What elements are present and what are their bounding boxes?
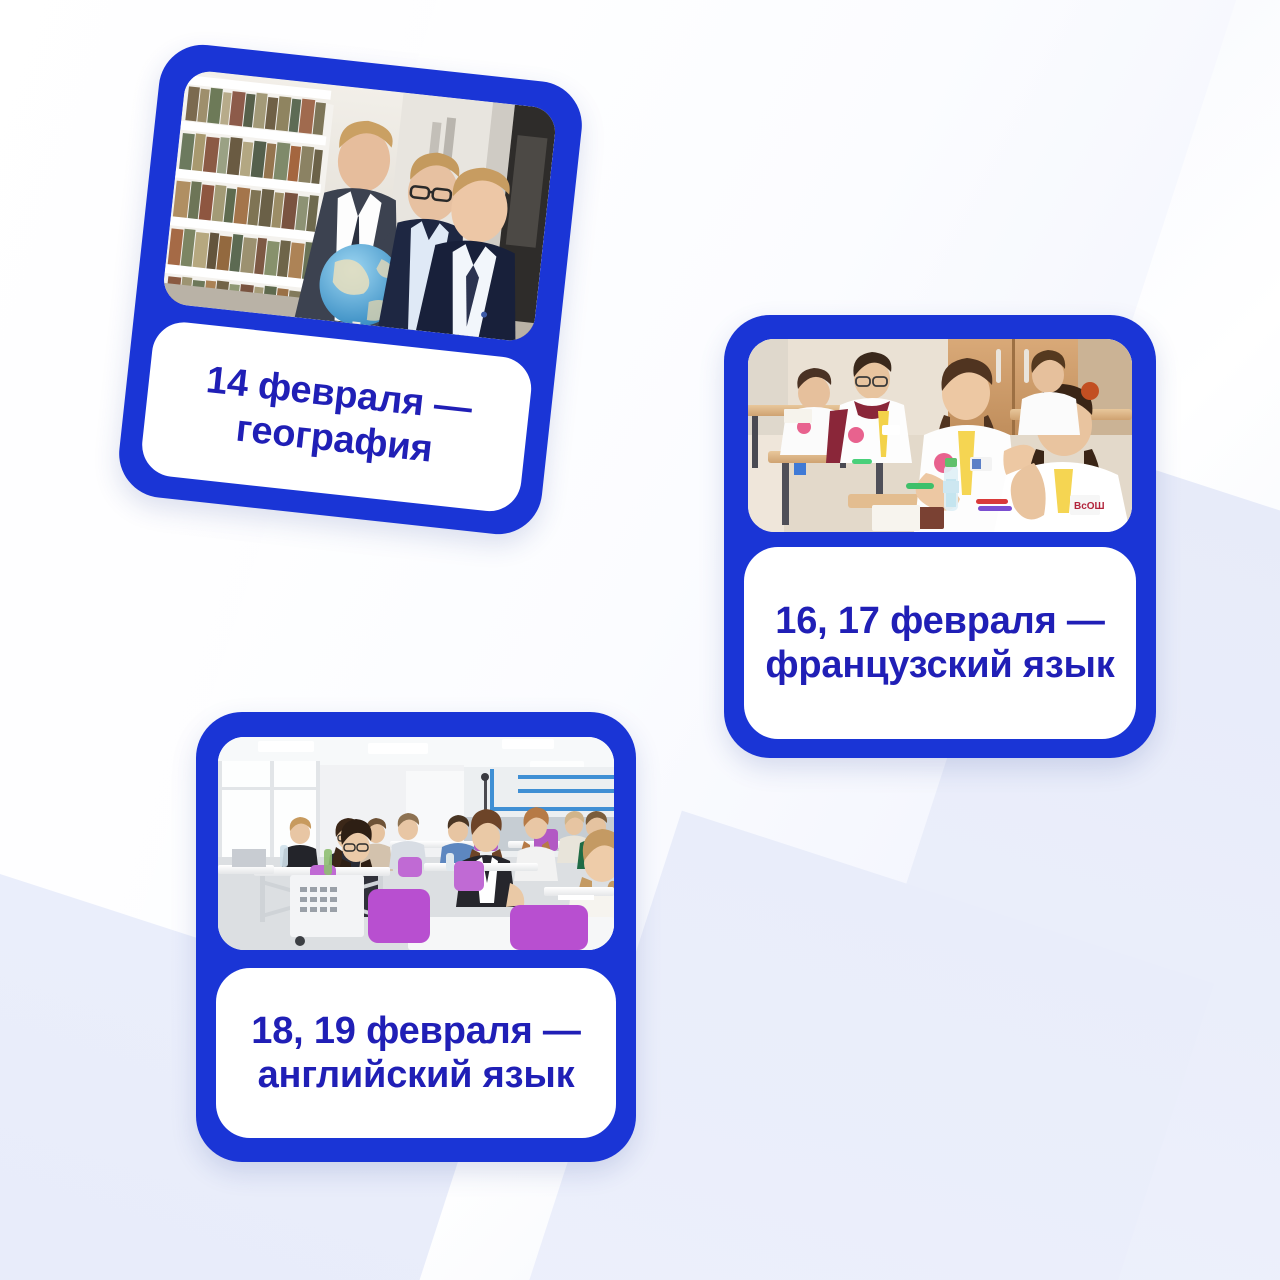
poster-canvas: 14 февраля — география <box>0 0 1280 1280</box>
schedule-card-english[interactable]: 18, 19 февраля — английский язык <box>196 712 636 1162</box>
card-caption-french: 16, 17 февраля — французский язык <box>744 547 1136 739</box>
card-caption-english: 18, 19 февраля — английский язык <box>216 968 616 1138</box>
exam-classroom-photo: ВсОШ <box>748 339 1132 532</box>
lecture-room-photo <box>218 737 614 950</box>
card-caption-geography: 14 февраля — география <box>139 319 535 514</box>
schedule-card-french[interactable]: ВсОШ <box>724 315 1156 758</box>
svg-text:ВсОШ: ВсОШ <box>1074 501 1105 512</box>
schedule-card-geography[interactable]: 14 февраля — география <box>115 40 587 538</box>
library-globe-photo <box>161 69 557 343</box>
